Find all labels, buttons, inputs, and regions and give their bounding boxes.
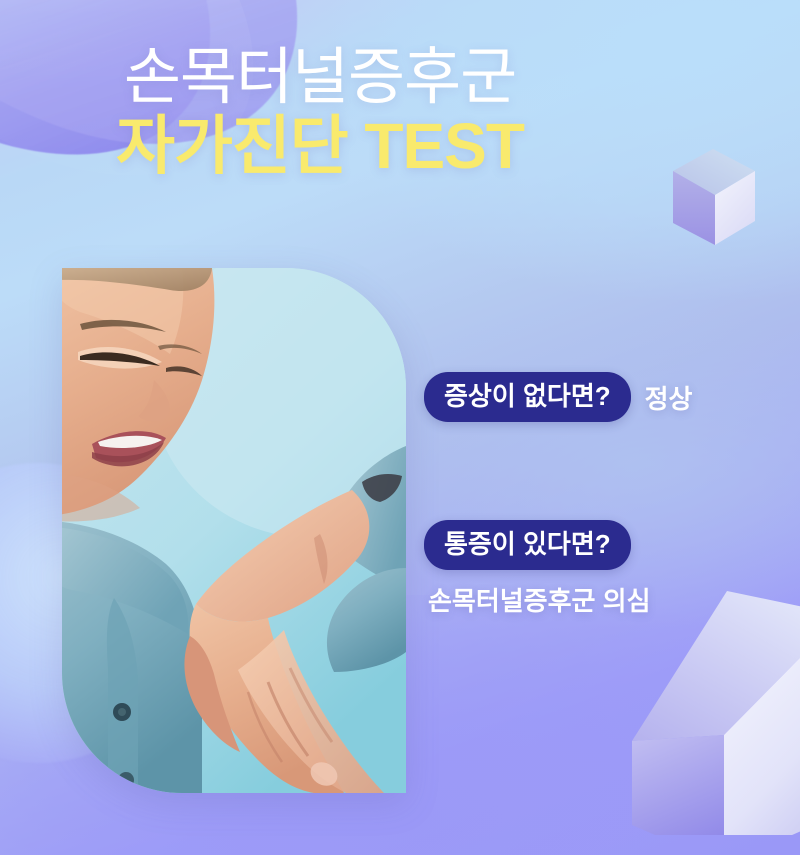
callout-pain: 통증이 있다면? 손목터널증후군 의심 [424,520,800,618]
page-title: 손목터널증후군 자가진단 TEST [0,46,640,180]
callout-pain-row: 통증이 있다면? [424,520,800,570]
title-line-1: 손목터널증후군 [0,46,640,109]
callout-pain-answer: 손목터널증후군 의심 [428,581,800,618]
callout-normal-row: 증상이 없다면? 정상 [424,372,800,422]
callout-normal-answer: 정상 [645,379,693,416]
patient-photo [62,268,406,793]
cube-3d-small-icon [663,145,759,249]
promo-banner: 손목터널증후군 자가진단 TEST [0,0,800,855]
callout-list: 증상이 없다면? 정상 통증이 있다면? 손목터널증후군 의심 [424,372,800,618]
callout-pain-question: 통증이 있다면? [424,520,631,570]
callout-normal: 증상이 없다면? 정상 [424,372,800,422]
title-line-2: 자가진단 TEST [0,113,640,180]
callout-normal-question: 증상이 없다면? [424,372,631,422]
